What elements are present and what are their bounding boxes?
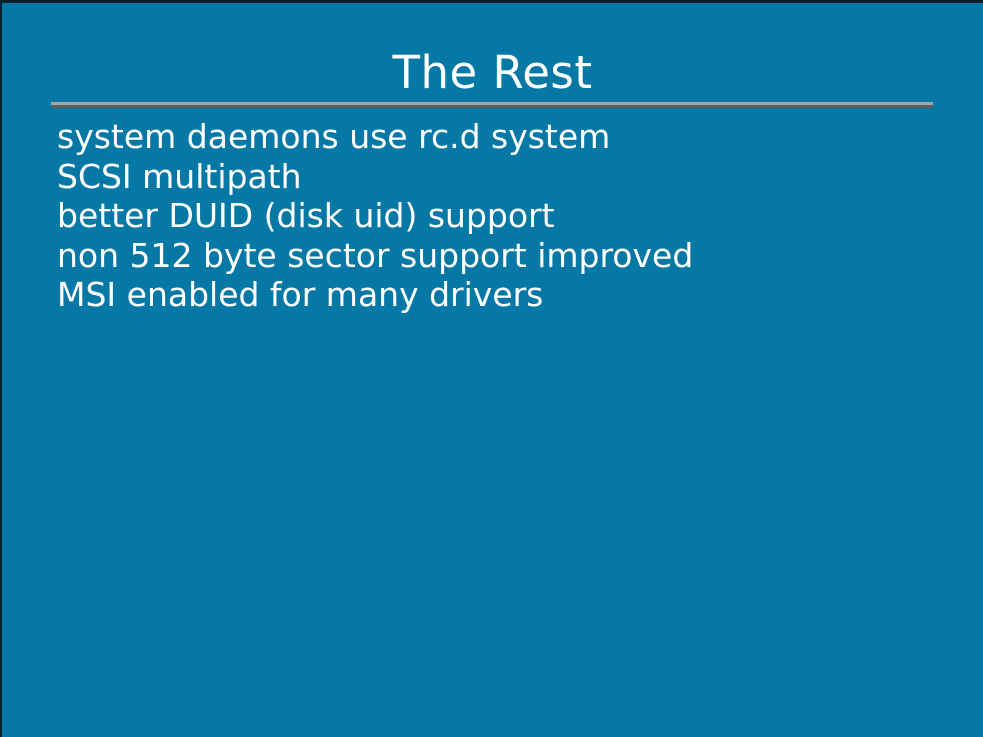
- slide-header: The Rest: [2, 3, 983, 103]
- list-item: system daemons use rc.d system: [57, 117, 947, 157]
- list-item: better DUID (disk uid) support: [57, 196, 947, 236]
- slide-body-list: system daemons use rc.d system SCSI mult…: [57, 117, 947, 315]
- list-item: MSI enabled for many drivers: [57, 275, 947, 315]
- list-item: SCSI multipath: [57, 157, 947, 197]
- list-item: non 512 byte sector support improved: [57, 236, 947, 276]
- title-divider-shadow: [51, 105, 933, 108]
- presentation-slide: The Rest system daemons use rc.d system …: [0, 0, 983, 737]
- title-divider: [51, 102, 933, 108]
- page-title: The Rest: [2, 47, 983, 99]
